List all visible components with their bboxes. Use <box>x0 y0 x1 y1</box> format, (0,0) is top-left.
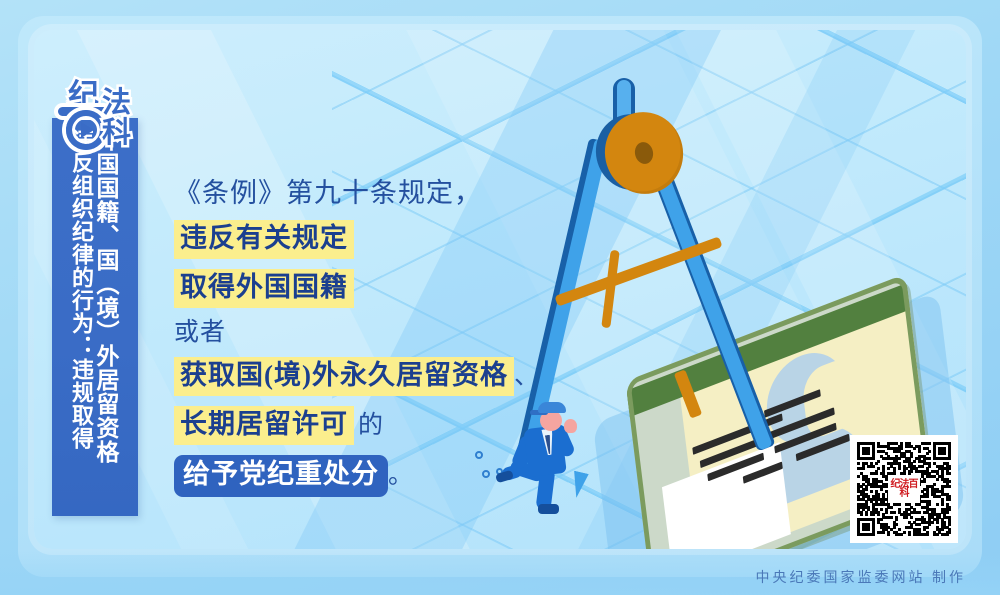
copy-highlight: 违反有关规定 <box>174 220 354 259</box>
copy-text: 的 <box>358 412 384 439</box>
play-triangle-icon <box>81 122 94 138</box>
footer-credit: 中央纪委国家监委网站 制作 <box>756 567 967 587</box>
banner-column-right: 外国国籍、国（境）外居留资格 <box>94 128 117 516</box>
copy-highlight: 长期居留许可 <box>174 406 354 445</box>
copy-line-3: 取得外国国籍 <box>174 269 594 308</box>
banner-column-left: 违反组织纪律的行为：违规取得 <box>70 128 92 516</box>
poster-inner-frame: 外国国籍、国（境）外居留资格 违反组织纪律的行为：违规取得 纪 法 科 《条例》… <box>34 30 966 549</box>
copy-text: 或者 <box>174 319 226 346</box>
copy-line-2: 违反有关规定 <box>174 220 594 259</box>
copy-line-4: 或者 <box>174 318 594 348</box>
body-copy: 《条例》第九十条规定， 违反有关规定 取得外国国籍 或者 获取国(境)外永久居留… <box>174 178 594 507</box>
logo-char-ke: 科 <box>102 109 131 151</box>
copy-line-1: 《条例》第九十条规定， <box>174 178 594 210</box>
copy-text: 《条例》第九十条规定， <box>174 178 482 208</box>
vertical-title-banner: 外国国籍、国（境）外居留资格 违反组织纪律的行为：违规取得 <box>52 118 138 516</box>
copy-line-5: 获取国(境)外永久居留资格、 <box>174 357 594 396</box>
poster-root: 外国国籍、国（境）外居留资格 违反组织纪律的行为：违规取得 纪 法 科 《条例》… <box>0 0 1000 595</box>
penalty-badge: 给予党纪重处分 <box>174 455 388 497</box>
qr-center-logo: 纪法百科 <box>889 476 919 502</box>
compass-pencil-tip <box>674 369 702 418</box>
copy-line-6: 长期居留许可 的 <box>174 406 594 445</box>
qr-code[interactable]: 纪法百科 <box>850 435 958 543</box>
illustration-stage: 外国国籍、国（境）外居留资格 违反组织纪律的行为：违规取得 纪 法 科 《条例》… <box>34 30 966 549</box>
copy-text: 、 <box>514 363 540 390</box>
copy-highlight: 取得外国国籍 <box>174 269 354 308</box>
copy-text: 。 <box>388 462 413 489</box>
jifa-baike-logo: 纪 法 科 <box>52 68 156 150</box>
copy-line-7: 给予党纪重处分。 <box>174 455 594 497</box>
copy-highlight: 获取国(境)外永久居留资格 <box>174 357 514 396</box>
qr-center-logo-text: 纪法百科 <box>889 480 919 499</box>
